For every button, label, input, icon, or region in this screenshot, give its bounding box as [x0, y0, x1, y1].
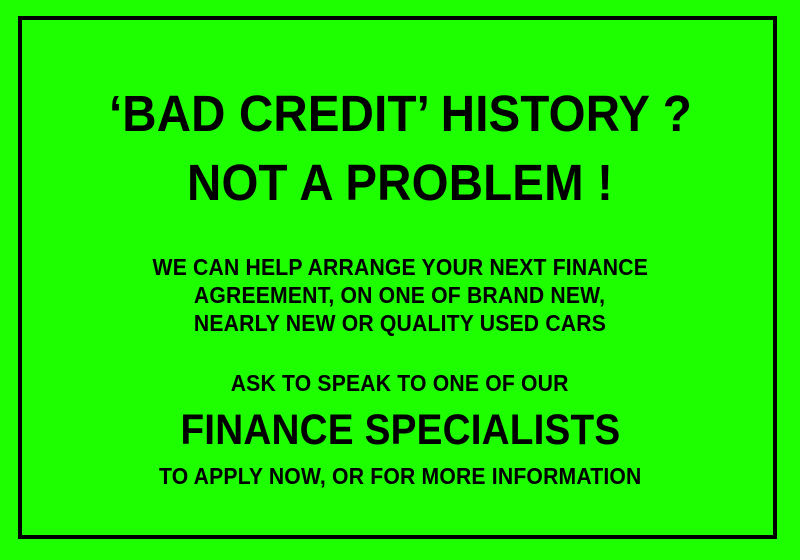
poster-content: ‘BAD CREDIT’ HISTORY ? NOT A PROBLEM ! W… [0, 0, 800, 560]
headline-secondary: NOT A PROBLEM ! [187, 157, 613, 208]
body-line-3: NEARLY NEW OR QUALITY USED CARS [194, 312, 606, 335]
advert-poster: ‘BAD CREDIT’ HISTORY ? NOT A PROBLEM ! W… [0, 0, 800, 560]
cta-lead-in: ASK TO SPEAK TO ONE OF OUR [231, 372, 569, 395]
cta-emphasis: FINANCE SPECIALISTS [180, 409, 620, 452]
cta-footer: TO APPLY NOW, OR FOR MORE INFORMATION [159, 465, 642, 488]
body-line-2: AGREEMENT, ON ONE OF BRAND NEW, [194, 284, 605, 307]
body-line-1: WE CAN HELP ARRANGE YOUR NEXT FINANCE [152, 256, 647, 279]
headline-primary: ‘BAD CREDIT’ HISTORY ? [109, 88, 692, 139]
